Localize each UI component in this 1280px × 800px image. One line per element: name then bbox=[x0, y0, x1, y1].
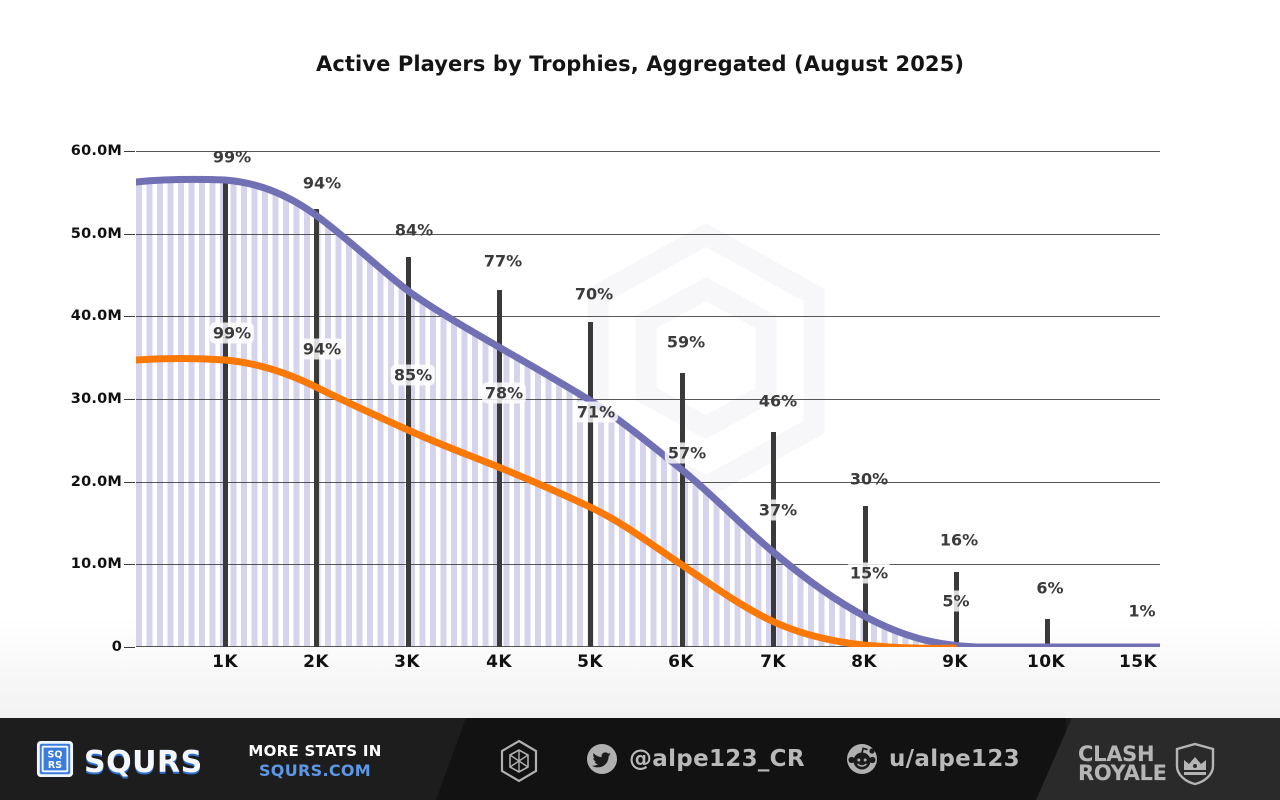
x-tick-label-2k: 2K bbox=[303, 652, 329, 672]
data-label-orange: 71% bbox=[574, 402, 618, 423]
y-tick-label: 40.0M bbox=[71, 308, 122, 324]
x-tick-label-7k: 7K bbox=[760, 652, 786, 672]
plot-area bbox=[136, 151, 1160, 647]
more-stats-line1: MORE STATS IN bbox=[240, 742, 390, 761]
x-tick-label-5k: 5K bbox=[577, 652, 603, 672]
chart-card: Active Players by Trophies, Aggregated (… bbox=[0, 0, 1280, 718]
more-stats-block[interactable]: MORE STATS IN SQURS.COM bbox=[240, 742, 390, 781]
x-tick-label-8k: 8K bbox=[851, 652, 877, 672]
x-tick-label-6k: 6K bbox=[668, 652, 694, 672]
plot-clip bbox=[136, 151, 1160, 647]
footer-bar: SQ RS SQURS MORE STATS IN SQURS.COM @alp… bbox=[0, 718, 1280, 800]
crown-shield-icon bbox=[1173, 742, 1217, 786]
twitter-link[interactable]: @alpe123_CR bbox=[586, 743, 805, 775]
y-axis: 0 10.0M 20.0M 30.0M 40.0M 50.0M 60.0M bbox=[0, 0, 136, 718]
chart-page: Active Players by Trophies, Aggregated (… bbox=[0, 0, 1280, 800]
data-label-orange: 5% bbox=[939, 591, 972, 612]
series-line-all-players bbox=[136, 179, 1160, 647]
data-label-orange: 85% bbox=[391, 365, 435, 386]
x-tick-label-4k: 4K bbox=[486, 652, 512, 672]
data-label-purple: 30% bbox=[850, 470, 888, 489]
reddit-handle: u/alpe123 bbox=[889, 746, 1020, 772]
data-label-purple: 6% bbox=[1036, 579, 1063, 598]
data-label-purple: 59% bbox=[667, 333, 705, 352]
clash-royale-line2: ROYALE bbox=[1078, 764, 1167, 783]
data-label-purple: 16% bbox=[940, 531, 978, 550]
data-label-purple: 84% bbox=[395, 221, 433, 240]
twitter-icon bbox=[586, 743, 618, 775]
y-axis-tick bbox=[124, 564, 135, 565]
y-axis-tick bbox=[124, 399, 135, 400]
y-axis-tick bbox=[124, 316, 135, 317]
data-label-orange: 78% bbox=[482, 383, 526, 404]
data-label-orange: 15% bbox=[847, 563, 891, 584]
data-label-orange: 57% bbox=[665, 443, 709, 464]
data-label-purple: 77% bbox=[484, 252, 522, 271]
y-tick-label: 20.0M bbox=[71, 474, 122, 490]
data-label-orange: 94% bbox=[300, 339, 344, 360]
y-tick-label: 0 bbox=[112, 639, 122, 655]
more-stats-line2[interactable]: SQURS.COM bbox=[240, 761, 390, 781]
data-label-orange: 99% bbox=[210, 323, 254, 344]
twitter-handle: @alpe123_CR bbox=[629, 746, 805, 772]
x-tick-label-3k: 3K bbox=[394, 652, 420, 672]
data-label-purple: 46% bbox=[759, 392, 797, 411]
clash-royale-wordmark: CLASH ROYALE bbox=[1078, 745, 1167, 784]
squrs-logo-bottom: RS bbox=[48, 760, 62, 771]
data-label-purple: 99% bbox=[213, 148, 251, 167]
x-tick-label-15k: 15K bbox=[1119, 652, 1157, 672]
squrs-wordmark: SQURS bbox=[84, 745, 203, 780]
reddit-icon bbox=[846, 743, 878, 775]
y-tick-label: 30.0M bbox=[71, 391, 122, 407]
y-axis-tick bbox=[124, 482, 135, 483]
reddit-link[interactable]: u/alpe123 bbox=[846, 743, 1020, 775]
data-label-orange: 37% bbox=[756, 500, 800, 521]
squrs-logo-icon: SQ RS bbox=[36, 740, 74, 778]
y-tick-label: 50.0M bbox=[71, 226, 122, 242]
x-tick-label-1k: 1K bbox=[212, 652, 238, 672]
y-axis-tick bbox=[124, 234, 135, 235]
data-label-purple: 94% bbox=[303, 174, 341, 193]
y-tick-label: 10.0M bbox=[71, 556, 122, 572]
data-label-purple: 70% bbox=[575, 285, 613, 304]
series-lines bbox=[136, 151, 1160, 647]
x-tick-label-10k: 10K bbox=[1027, 652, 1065, 672]
y-axis-tick bbox=[124, 151, 135, 152]
chart-title: Active Players by Trophies, Aggregated (… bbox=[0, 52, 1280, 76]
x-tick-label-9k: 9K bbox=[942, 652, 968, 672]
squrs-logo-top: SQ bbox=[48, 750, 63, 761]
clash-royale-logo: CLASH ROYALE bbox=[1078, 742, 1248, 786]
hexagon-logo-icon bbox=[497, 739, 541, 783]
series-line-active-players bbox=[136, 359, 954, 648]
data-label-purple: 1% bbox=[1128, 602, 1155, 621]
y-tick-label: 60.0M bbox=[71, 143, 122, 159]
y-axis-tick bbox=[124, 647, 135, 648]
